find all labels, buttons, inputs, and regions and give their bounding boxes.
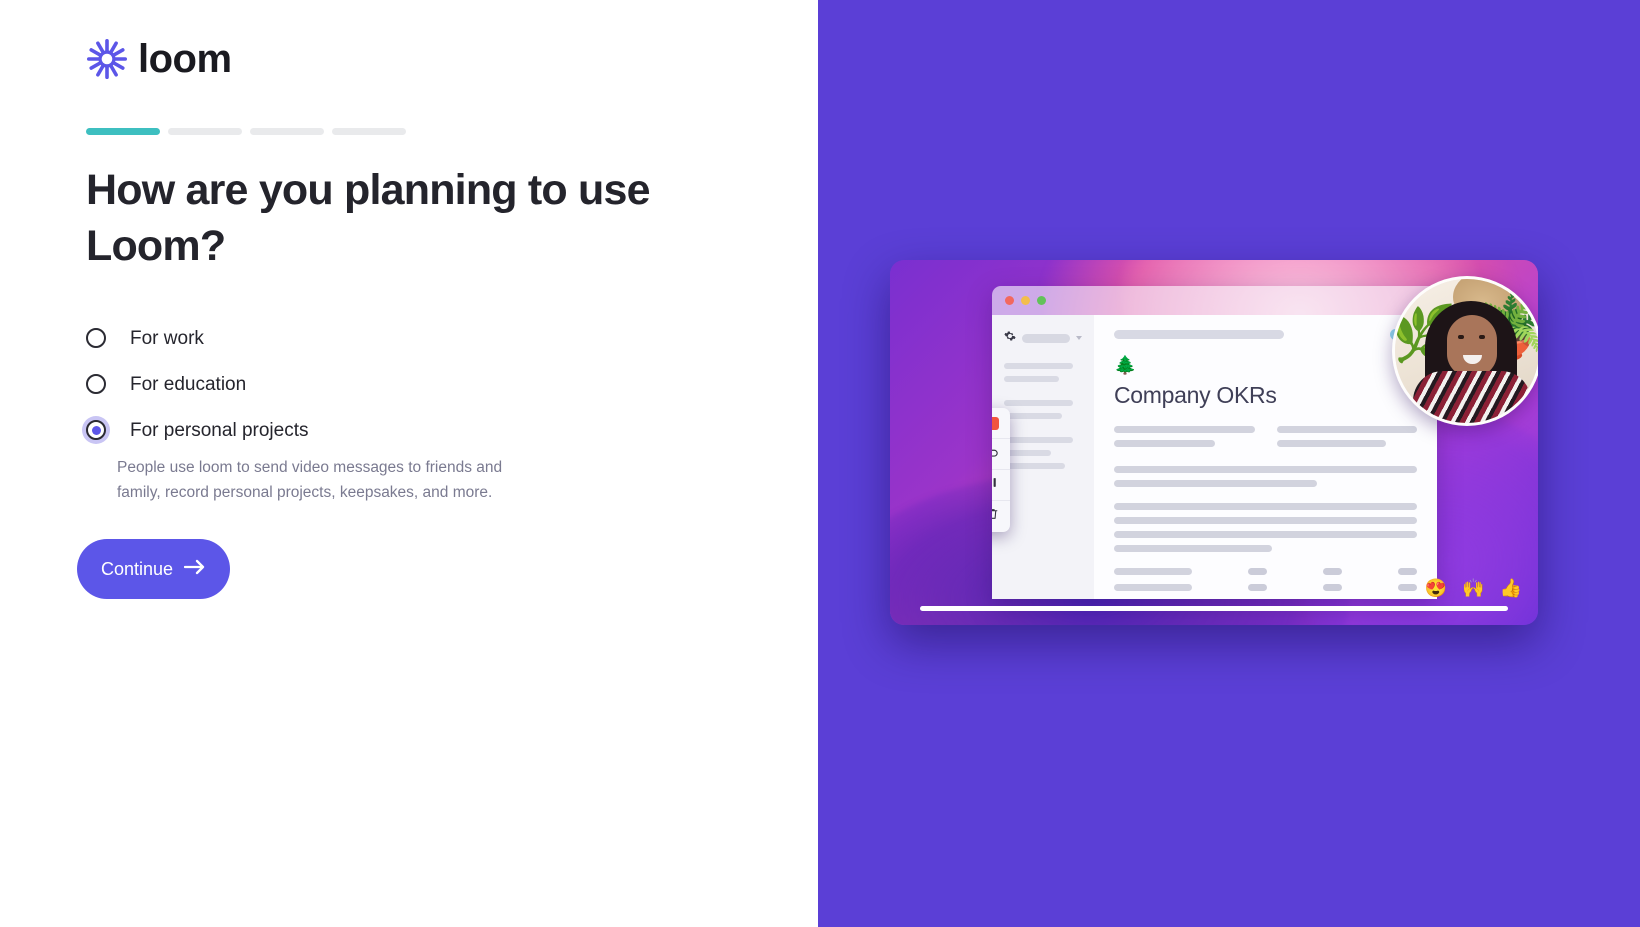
presenter-shirt: [1413, 371, 1531, 426]
onboarding-progress: [86, 128, 406, 135]
table-cell: [1248, 584, 1267, 591]
option-for-personal-projects[interactable]: For personal projects: [86, 410, 606, 450]
presenter-webcam-bubble: 🌿 🪴: [1392, 276, 1538, 426]
browser-content: 🌲 Company OKRs: [992, 315, 1437, 599]
text-placeholder-line: [1114, 503, 1417, 510]
reaction-heart-eyes-icon[interactable]: 😍: [1425, 579, 1447, 597]
sidebar-placeholder-line: [1004, 400, 1073, 406]
sidebar-placeholder-line: [1004, 363, 1073, 369]
recording-controls-toolbar: [992, 408, 1010, 532]
table-cell: [1114, 584, 1192, 591]
document-column: [1114, 426, 1255, 454]
table-cell: [1323, 584, 1342, 591]
loom-logo: loom: [86, 38, 232, 80]
gear-icon: [1004, 329, 1016, 347]
delete-recording-button[interactable]: [992, 501, 1010, 532]
table-cell: [1248, 568, 1267, 575]
document-column: [1277, 426, 1418, 454]
sidebar-header: [1004, 329, 1082, 347]
maximize-window-icon: [1037, 296, 1046, 305]
reaction-thumbs-up-icon[interactable]: 👍: [1500, 579, 1522, 597]
option-for-work[interactable]: For work: [86, 318, 606, 358]
presenter-face: [1447, 315, 1497, 377]
document-breadcrumb-placeholder: [1114, 330, 1284, 339]
pause-recording-button[interactable]: [992, 470, 1010, 501]
table-row: [1114, 584, 1417, 591]
presenter-eye: [1458, 335, 1464, 339]
sidebar-placeholder-line: [1004, 437, 1073, 443]
loom-video-preview: 🌲 Company OKRs: [890, 260, 1538, 625]
radio-for-work[interactable]: [86, 328, 106, 348]
usage-options-group: For work For education For personal proj…: [86, 318, 606, 506]
chevron-down-icon: [1076, 336, 1082, 340]
table-cell: [1114, 568, 1192, 575]
pause-icon: [992, 476, 999, 494]
sidebar-placeholder-line: [1004, 413, 1062, 419]
table-cell: [1323, 568, 1342, 575]
option-label-for-work: For work: [130, 329, 204, 348]
document-title: Company OKRs: [1114, 382, 1417, 409]
undo-arrow-icon: [992, 445, 1000, 464]
progress-step-1: [86, 128, 160, 135]
document-toolbar: [1114, 329, 1417, 340]
text-placeholder-line: [1277, 426, 1418, 433]
loom-sunburst-icon: [86, 38, 128, 80]
close-window-icon: [1005, 296, 1014, 305]
progress-step-4: [332, 128, 406, 135]
option-help-text: People use loom to send video messages t…: [117, 456, 517, 506]
text-placeholder-line: [1114, 545, 1272, 552]
text-placeholder-line: [1114, 480, 1317, 487]
browser-window-mock: 🌲 Company OKRs: [992, 286, 1437, 599]
restart-recording-button[interactable]: [992, 439, 1010, 470]
page-title: How are you planning to use Loom?: [86, 163, 706, 275]
sidebar-workspace-pill: [1022, 334, 1070, 343]
document-canvas: 🌲 Company OKRs: [1094, 315, 1437, 599]
brand-wordmark: loom: [138, 39, 232, 79]
reaction-raised-hands-icon[interactable]: 🙌: [1462, 579, 1484, 597]
sidebar-placeholder-line: [1004, 463, 1065, 469]
document-emoji-icon: 🌲: [1114, 356, 1417, 374]
table-cell: [1398, 584, 1417, 591]
text-placeholder-line: [1114, 440, 1215, 447]
radio-for-education[interactable]: [86, 374, 106, 394]
text-placeholder-line: [1114, 531, 1417, 538]
trash-icon: [992, 507, 999, 526]
continue-button-label: Continue: [101, 559, 173, 580]
radio-for-personal-projects[interactable]: [86, 420, 106, 440]
text-placeholder-line: [1114, 466, 1417, 473]
presenter-eye: [1479, 335, 1485, 339]
radio-dot: [92, 426, 101, 435]
progress-step-3: [250, 128, 324, 135]
table-cell: [1398, 568, 1417, 575]
sidebar-placeholder-line: [1004, 450, 1051, 456]
left-content-panel: loom How are you planning to use Loom? F…: [0, 0, 818, 927]
browser-titlebar: [992, 286, 1437, 315]
minimize-window-icon: [1021, 296, 1030, 305]
text-placeholder-line: [1277, 440, 1387, 447]
stop-square-icon: [992, 417, 999, 430]
text-placeholder-line: [1114, 517, 1417, 524]
illustration-panel: 🌲 Company OKRs: [818, 0, 1640, 927]
option-label-for-personal-projects: For personal projects: [130, 421, 308, 440]
onboarding-page: loom How are you planning to use Loom? F…: [0, 0, 1640, 927]
video-progress-scrubber[interactable]: [920, 606, 1508, 611]
text-placeholder-line: [1114, 426, 1255, 433]
document-two-column-block: [1114, 426, 1417, 454]
progress-step-2: [168, 128, 242, 135]
option-label-for-education: For education: [130, 375, 246, 394]
emoji-reactions[interactable]: 😍 🙌 👍: [1425, 579, 1522, 597]
stop-recording-button[interactable]: [992, 408, 1010, 439]
continue-button[interactable]: Continue: [77, 539, 230, 599]
arrow-right-icon: [184, 559, 206, 580]
table-row: [1114, 568, 1417, 575]
option-for-education[interactable]: For education: [86, 364, 606, 404]
sidebar-placeholder-line: [1004, 376, 1059, 382]
